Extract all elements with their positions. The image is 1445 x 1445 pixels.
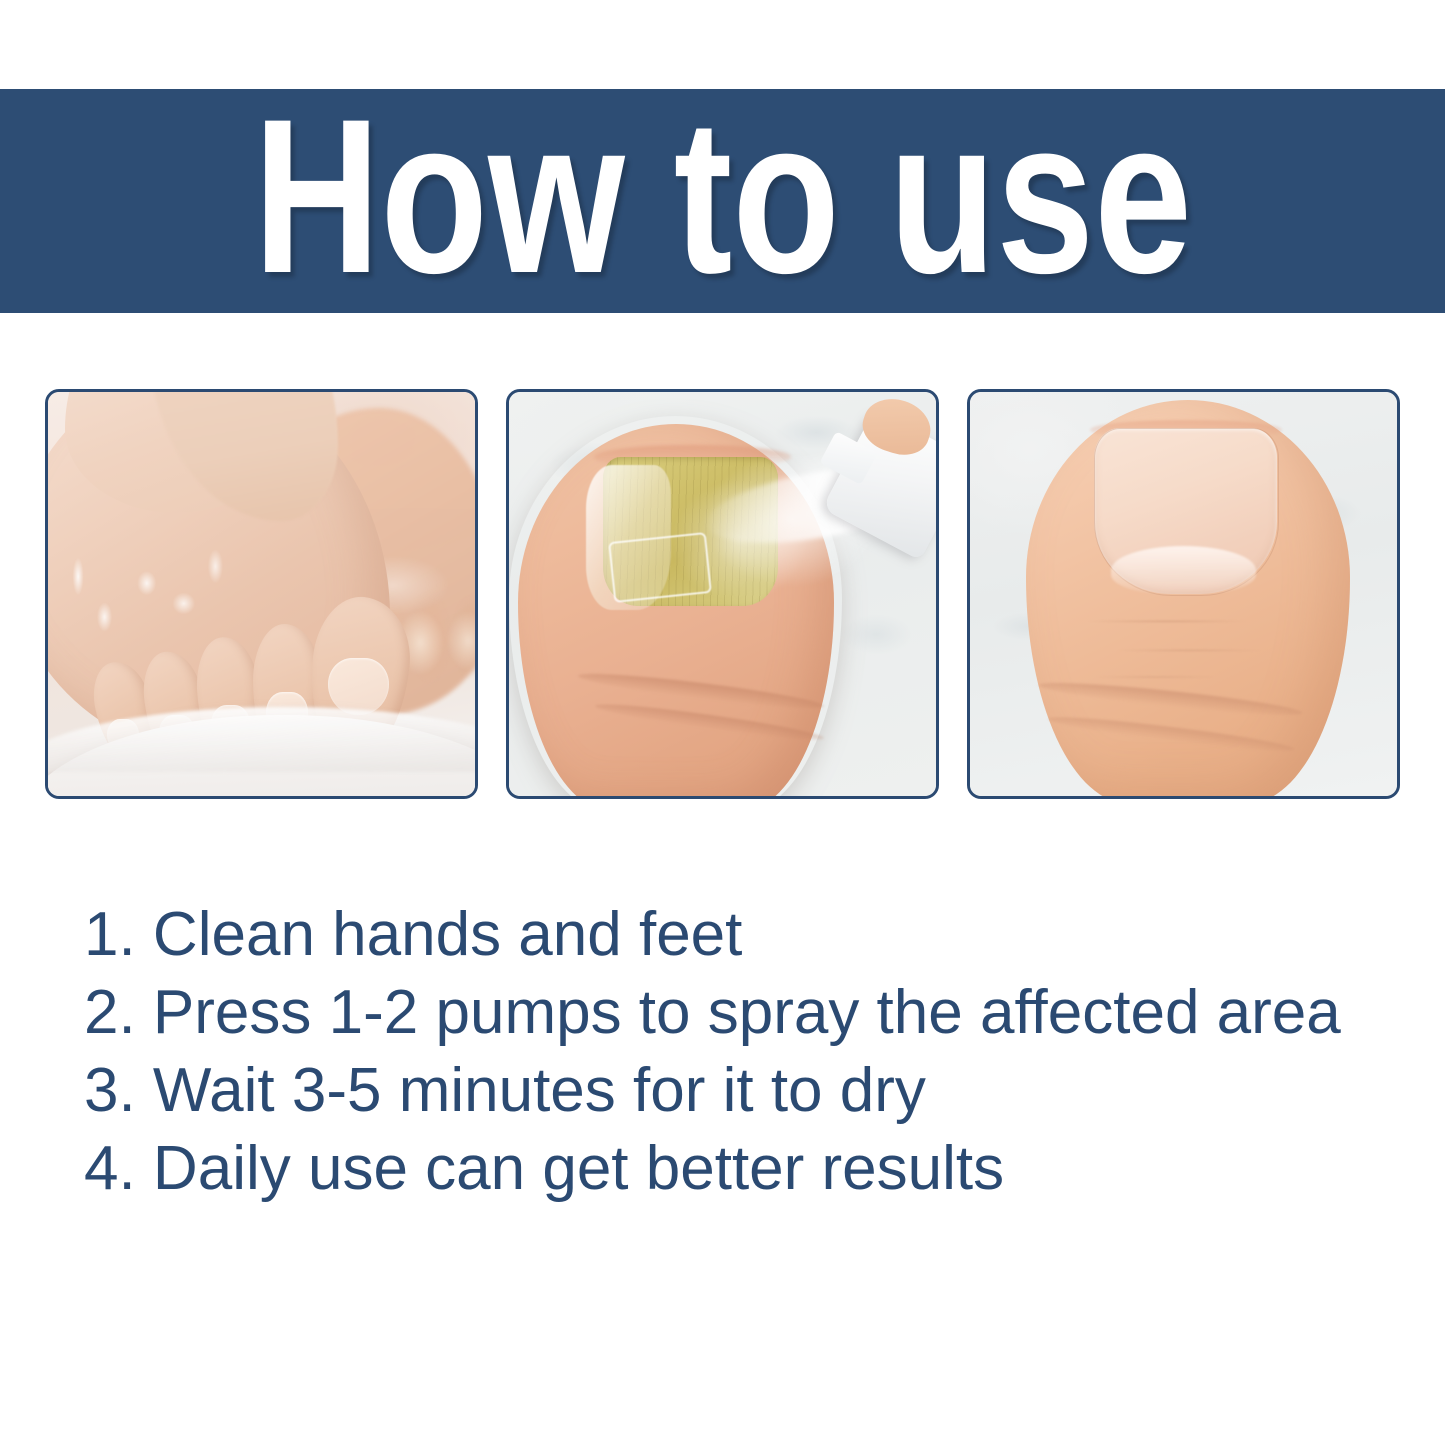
photo-healthy-toenail: [970, 392, 1397, 796]
instruction-step-list: 1. Clean hands and feet 2. Press 1-2 pum…: [84, 896, 1384, 1208]
water-droplets: [57, 546, 322, 716]
page-title: How to use: [253, 95, 1192, 307]
instruction-step-4: 4. Daily use can get better results: [84, 1130, 1384, 1208]
photo-feet-washing: [48, 392, 475, 796]
how-to-use-banner: How to use: [0, 89, 1445, 313]
step-image-spray-nail: [506, 389, 939, 799]
nail-lunula: [1111, 546, 1256, 594]
instruction-step-3: 3. Wait 3-5 minutes for it to dry: [84, 1052, 1384, 1130]
instruction-image-row: [45, 389, 1400, 799]
step-image-wash-feet: [45, 389, 478, 799]
instruction-step-1: 1. Clean hands and feet: [84, 896, 1384, 974]
step-image-healthy-nail: [967, 389, 1400, 799]
instruction-step-2: 2. Press 1-2 pumps to spray the affected…: [84, 974, 1384, 1052]
photo-spraying-toenail: [509, 392, 936, 796]
